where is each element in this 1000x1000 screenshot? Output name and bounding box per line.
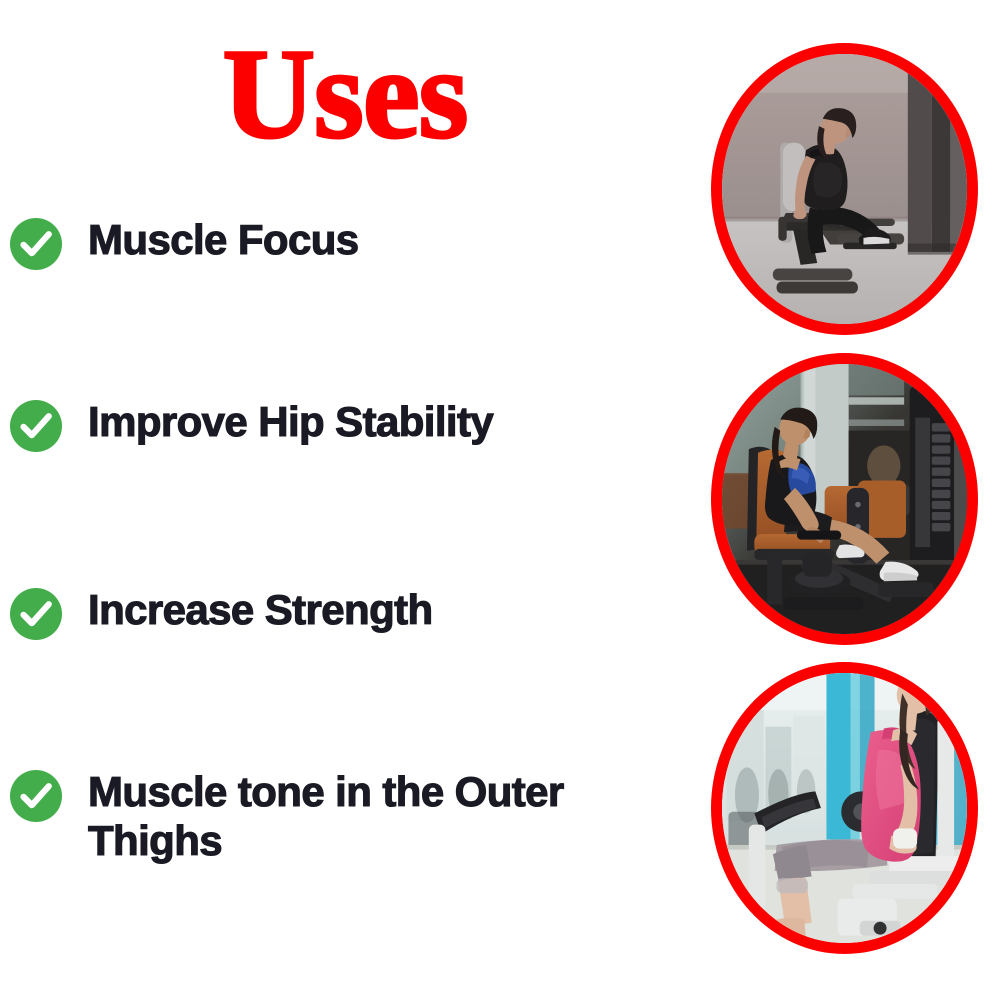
photo-illustration — [722, 54, 967, 324]
bullet-item-muscle-focus: Muscle Focus — [10, 216, 690, 270]
check-circle-icon — [10, 218, 62, 270]
bullet-list: Muscle Focus Improve Hip Stability Incre… — [0, 0, 700, 1000]
bullet-item-muscle-tone-outer-thighs: Muscle tone in the Outer Thighs — [10, 768, 690, 865]
check-circle-icon — [10, 588, 62, 640]
photo-hip-abduction-machine-grey-gym — [711, 43, 978, 335]
bullet-item-improve-hip-stability: Improve Hip Stability — [10, 398, 690, 452]
infographic-page: Uses Muscle Focus Improve Hip Stability … — [0, 0, 1000, 1000]
bullet-item-label: Muscle tone in the Outer Thighs — [88, 768, 660, 865]
photo-illustration — [722, 673, 967, 943]
bullet-item-increase-strength: Increase Strength — [10, 586, 690, 640]
bullet-item-label: Increase Strength — [88, 586, 433, 635]
photo-hip-abduction-machine-pink-top — [711, 662, 978, 954]
bullet-item-label: Improve Hip Stability — [88, 398, 493, 447]
check-circle-icon — [10, 400, 62, 452]
photo-illustration — [722, 364, 967, 634]
check-circle-icon — [10, 770, 62, 822]
photo-hip-abduction-machine-orange-pads — [711, 353, 978, 645]
bullet-item-label: Muscle Focus — [88, 216, 359, 265]
